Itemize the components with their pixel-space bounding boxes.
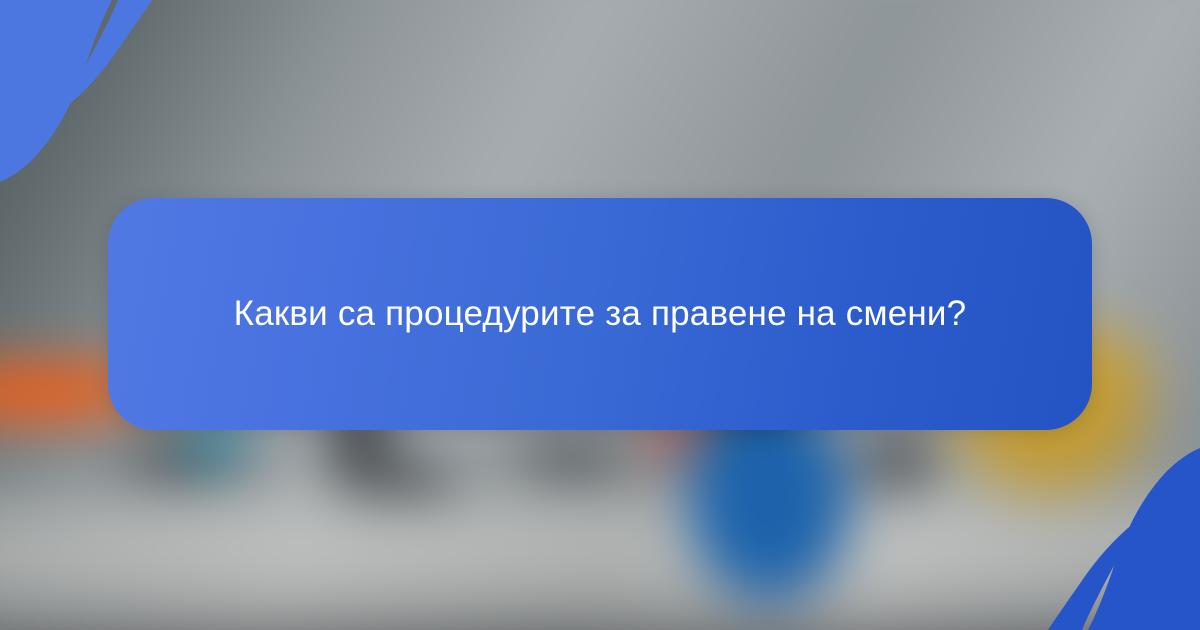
question-text: Какви са процедурите за правене на смени…: [220, 288, 980, 340]
social-card-canvas: Какви са процедурите за правене на смени…: [0, 0, 1200, 630]
question-card: Какви са процедурите за правене на смени…: [108, 198, 1092, 430]
